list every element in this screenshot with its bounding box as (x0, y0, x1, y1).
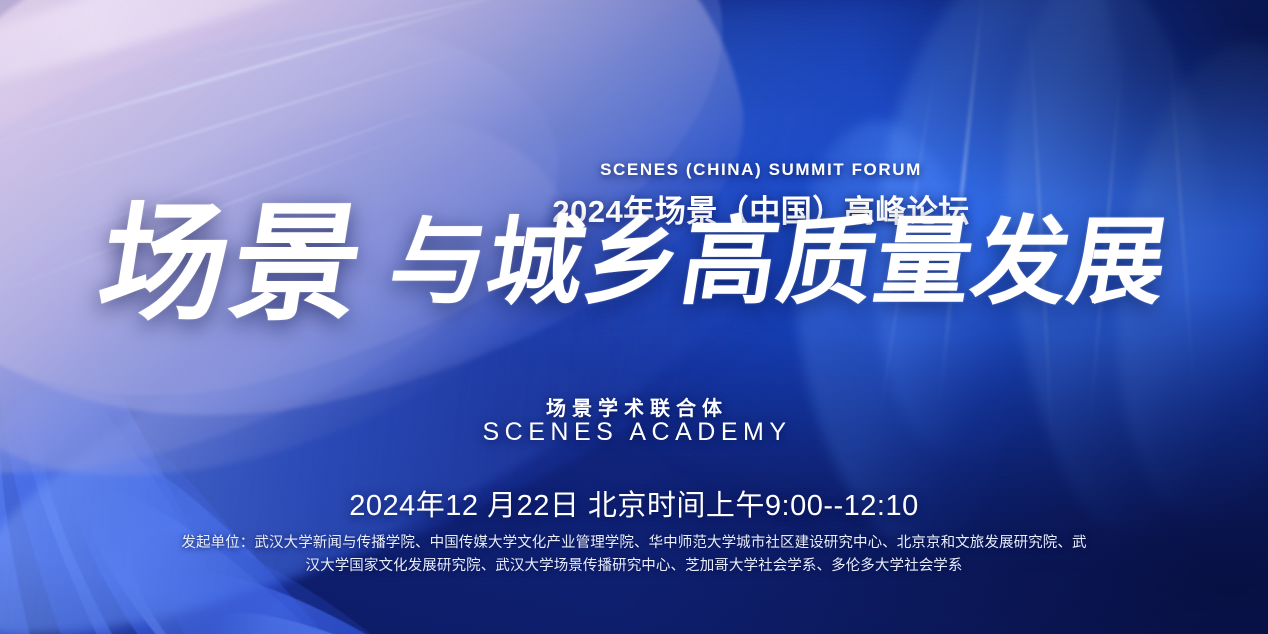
organizer-name-english: SCENES ACADEMY (0, 418, 1268, 447)
summit-forum-poster: SCENES (CHINA) SUMMIT FORUM 2024年场景（中国）高… (0, 0, 1268, 634)
kicker-english-title: SCENES (CHINA) SUMMIT FORUM (0, 160, 1268, 180)
host-institutions-line-2: 汉大学国家文化发展研究院、武汉大学场景传播研究中心、芝加哥大学社会学系、多伦多大… (140, 555, 1128, 578)
main-title-part-two: 与城乡高质量发展 (383, 215, 1174, 311)
poster-content: SCENES (CHINA) SUMMIT FORUM 2024年场景（中国）高… (0, 0, 1268, 634)
event-datetime: 2024年12 月22日 北京时间上午9:00--12:10 (0, 482, 1268, 524)
host-institutions: 发起单位：武汉大学新闻与传播学院、中国传媒大学文化产业管理学院、华中师范大学城市… (140, 532, 1128, 578)
main-title: 场景 与城乡高质量发展 (0, 196, 1268, 319)
organizer-name-chinese: 场景学术联合体 (0, 392, 1268, 421)
host-institutions-line-1: 发起单位：武汉大学新闻与传播学院、中国传媒大学文化产业管理学院、华中师范大学城市… (181, 535, 1086, 551)
main-title-part-one: 场景 (91, 204, 374, 327)
